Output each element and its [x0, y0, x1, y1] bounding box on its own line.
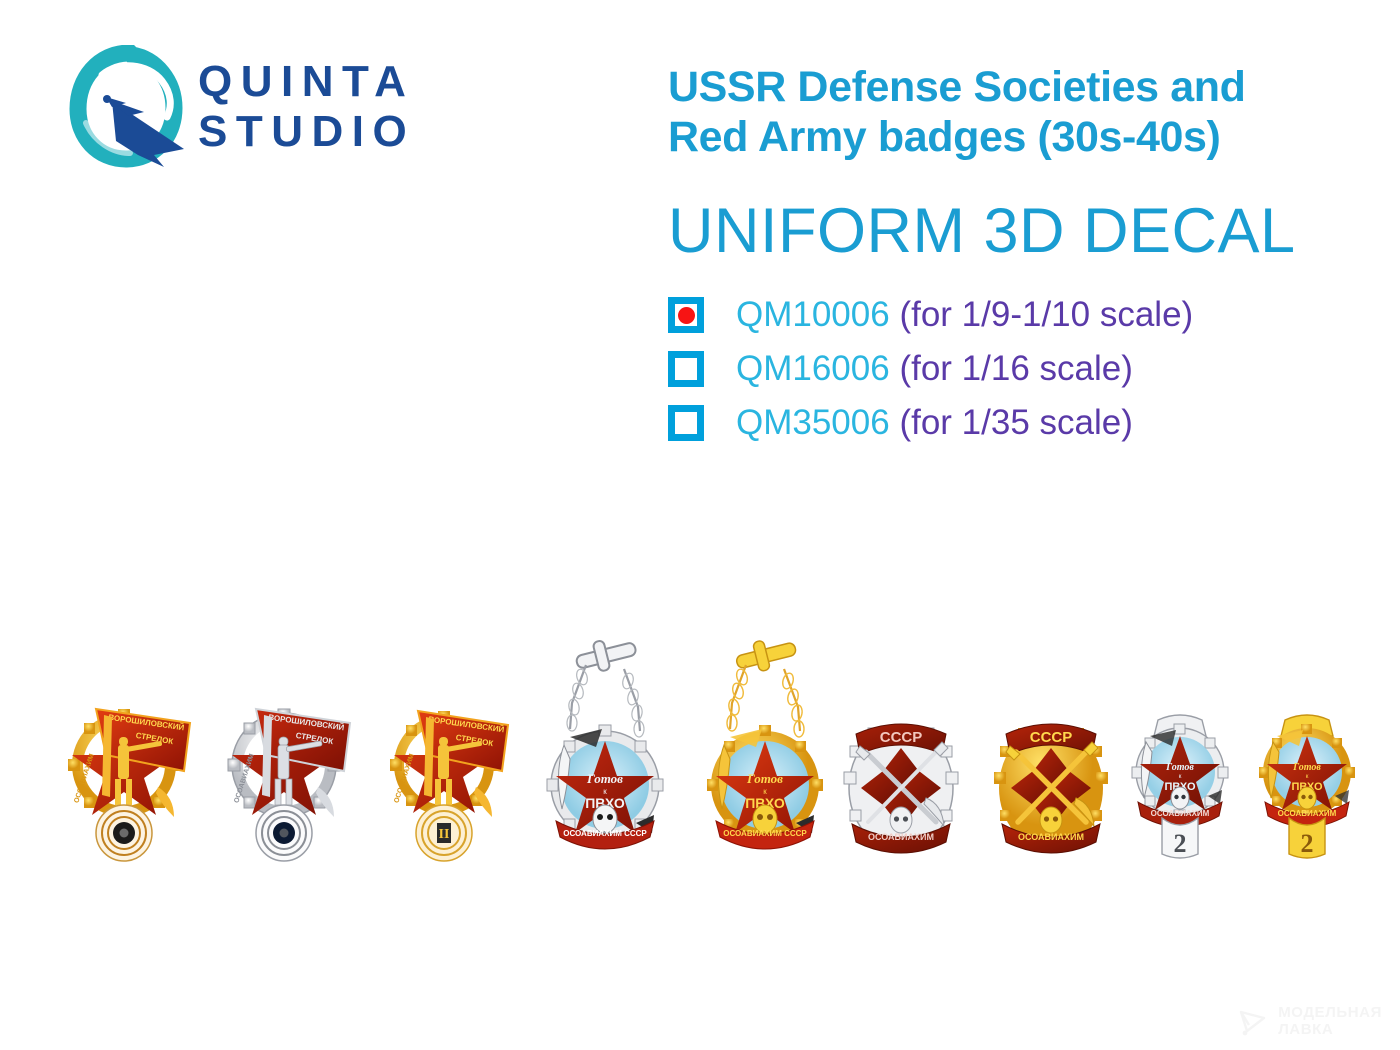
option-code: QM35006	[736, 403, 890, 442]
badge-grade: II	[439, 827, 450, 842]
watermark-line1: МОДЕЛЬНАЯ	[1278, 1004, 1382, 1021]
badge-voroshilov-sharpshooter-silver: ВОРОШИЛОВСКИЙ СТРЕЛОК ОСОАВИАХИМ	[222, 693, 362, 868]
watermark: МОДЕЛЬНАЯ ЛАВКА	[1235, 1004, 1382, 1038]
watermark-line2: ЛАВКА	[1278, 1021, 1382, 1038]
paper-plane-icon	[1235, 1004, 1269, 1038]
badge-gallery: ВОРОШИЛОВСКИЙ СТРЕЛОК ОСОАВИАХИМ	[0, 630, 1400, 880]
gas-mask-icon	[1040, 807, 1062, 833]
badge-star-text-top: Готов	[1292, 762, 1321, 773]
product-subtitle: UNIFORM 3D DECAL	[668, 196, 1296, 266]
checked-dot-icon	[678, 307, 695, 324]
product-option-row[interactable]: QM10006 (for 1/9-1/10 scale)	[668, 288, 1193, 342]
badge-voroshilov-sharpshooter-gold: ВОРОШИЛОВСКИЙ СТРЕЛОК ОСОАВИАХИМ	[62, 693, 202, 868]
badge-ribbon-text: ОСОАВИАХИМ	[1151, 809, 1210, 818]
badge-ribbon-text: ОСОАВИАХИМ	[868, 832, 934, 842]
badge-grade-number: 2	[1301, 829, 1314, 858]
badge-star-text-mid: к	[1306, 774, 1309, 780]
option-label-qm35006: QM35006 (for 1/35 scale)	[736, 403, 1133, 443]
badge-ribbon-text: ОСОАВИАХИМ	[1278, 809, 1337, 818]
product-option-list: QM10006 (for 1/9-1/10 scale) QM16006 (fo…	[668, 288, 1193, 450]
option-scale: (for 1/9-1/10 scale)	[899, 295, 1193, 334]
badge-gotov-k-pvho-gold-chain: Готов к ПВХО ОСОАВИАХИМ СССР	[700, 633, 830, 868]
badge-star-text-mid: к	[1179, 774, 1182, 780]
page-header: QUINTA STUDIO USSR Defense Societies and…	[0, 0, 1400, 470]
brand-name-line1: QUINTA	[198, 57, 415, 107]
badge-ribbon-text: ОСОАВИАХИМ СССР	[563, 829, 647, 838]
badge-ribbon-text: ОСОАВИАХИМ СССР	[723, 829, 807, 838]
badge-top-text: СССР	[880, 729, 923, 746]
badge-grade-number: 2	[1174, 829, 1187, 858]
title-line-2: Red Army badges (30s-40s)	[668, 112, 1368, 162]
product-option-row[interactable]: QM16006 (for 1/16 scale)	[668, 342, 1193, 396]
badge-star-text-top: Готов	[586, 771, 623, 786]
title-line-1: USSR Defense Societies and	[668, 62, 1368, 112]
option-code: QM16006	[736, 349, 890, 388]
product-option-row[interactable]: QM35006 (for 1/35 scale)	[668, 396, 1193, 450]
badge-star-text-top: Готов	[1165, 762, 1194, 773]
badge-gotov-k-pvho-2nd-degree-gold: Готов к ПВХО ОСОАВИАХИМ 2	[1255, 706, 1359, 868]
badge-ribbon-text: ОСОАВИАХИМ	[1018, 832, 1084, 842]
option-scale: (for 1/35 scale)	[899, 403, 1132, 442]
option-checkbox-qm35006[interactable]	[668, 405, 704, 441]
badge-voroshilov-sharpshooter-2nd-class: ВОРОШИЛОВСКИЙ СТРЕЛОК ОСОАВИАХИМ II	[382, 693, 522, 868]
page-title: USSR Defense Societies and Red Army badg…	[668, 62, 1368, 162]
option-label-qm16006: QM16006 (for 1/16 scale)	[736, 349, 1133, 389]
option-code: QM10006	[736, 295, 890, 334]
gas-mask-icon	[1171, 787, 1189, 809]
badge-top-text: СССР	[1030, 729, 1073, 746]
badge-gotov-k-pvho-silver-chain: Готов к ПВХО ОСОАВИАХИМ СССР	[540, 633, 670, 868]
option-checkbox-qm10006[interactable]	[668, 297, 704, 333]
option-scale: (for 1/16 scale)	[899, 349, 1132, 388]
gas-mask-icon	[1298, 787, 1316, 809]
gas-mask-icon	[890, 807, 912, 833]
badge-osoaviahim-sssr-silver: СССР ОСОАВИАХИМ	[838, 700, 964, 868]
brand-logo[interactable]: QUINTA STUDIO	[68, 45, 488, 175]
quinta-q-jet-logo-icon	[68, 45, 188, 170]
badge-osoaviahim-sssr-gold: СССР ОСОАВИАХИМ	[988, 700, 1114, 868]
badge-star-text-top: Готов	[746, 771, 783, 786]
brand-wordmark: QUINTA STUDIO	[198, 57, 415, 157]
badge-gotov-k-pvho-2nd-degree-silver: Готов к ПВХО ОСОАВИАХИМ 2	[1128, 706, 1232, 868]
brand-name-line2: STUDIO	[198, 107, 415, 157]
option-checkbox-qm16006[interactable]	[668, 351, 704, 387]
option-label-qm10006: QM10006 (for 1/9-1/10 scale)	[736, 295, 1193, 335]
